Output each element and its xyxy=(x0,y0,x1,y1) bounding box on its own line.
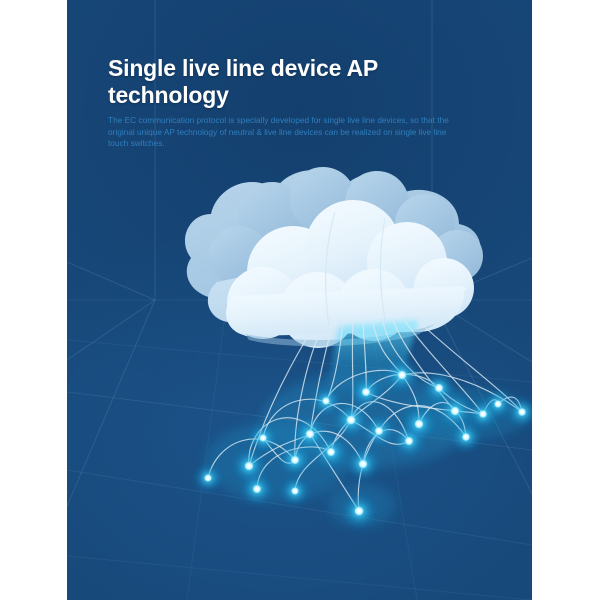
network-node xyxy=(375,427,383,435)
network-node xyxy=(451,407,459,415)
network-node xyxy=(291,487,298,494)
network-node xyxy=(204,474,211,481)
network-node xyxy=(306,430,314,438)
network-node xyxy=(362,388,370,396)
network-node xyxy=(253,485,261,493)
page-title: Single live line device AP technology xyxy=(108,55,490,109)
network-node xyxy=(518,408,526,416)
network-node xyxy=(415,420,423,428)
network-node xyxy=(245,462,253,470)
network-node xyxy=(494,400,501,407)
network-node xyxy=(398,371,406,379)
network-node xyxy=(435,384,443,392)
network-node xyxy=(291,456,299,464)
text-block: Single live line device AP technology Th… xyxy=(108,55,490,150)
network-node xyxy=(327,448,335,456)
network-node xyxy=(405,437,413,445)
page-subtitle: The EC communication protocol is special… xyxy=(108,115,460,150)
network-node xyxy=(479,410,487,418)
network-node xyxy=(347,416,356,425)
blue-panel: Single live line device AP technology Th… xyxy=(67,0,532,600)
network-node xyxy=(259,434,266,441)
poster-root: Single live line device AP technology Th… xyxy=(0,0,600,600)
network-node xyxy=(322,397,329,404)
network-node xyxy=(462,433,470,441)
network-node xyxy=(355,507,364,516)
cloud-graphic xyxy=(185,167,483,348)
network-node xyxy=(359,460,367,468)
